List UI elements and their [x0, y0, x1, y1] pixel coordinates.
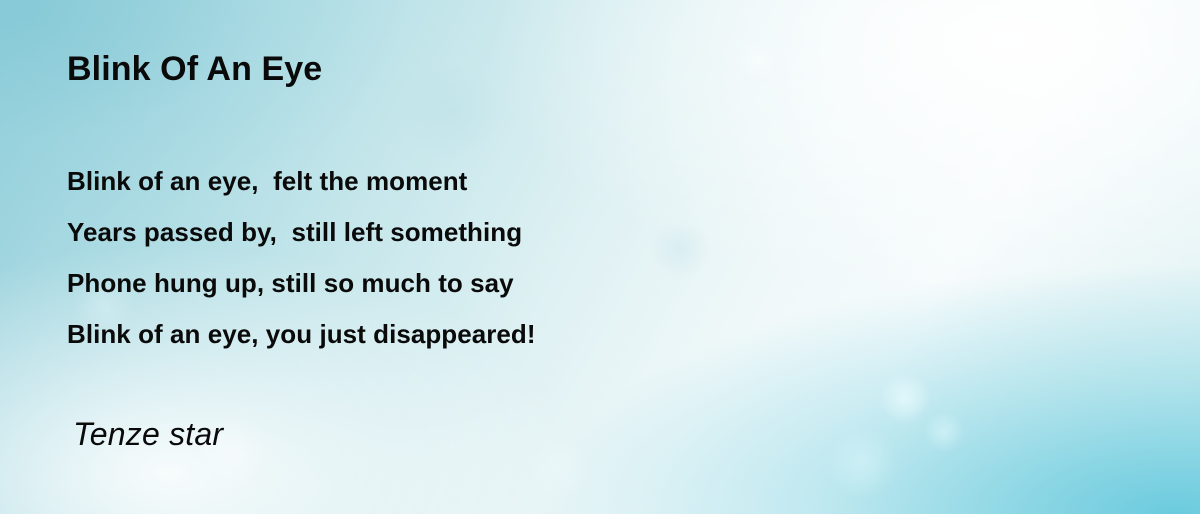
poem-body: Blink of an eye, felt the moment Years p… [67, 156, 536, 360]
poem-line: Years passed by, still left something [67, 207, 536, 258]
poem-content: Blink Of An Eye Blink of an eye, felt th… [0, 0, 1200, 514]
poem-line: Blink of an eye, you just disappeared! [67, 309, 536, 360]
poem-author-signature: Tenze star [73, 416, 223, 453]
poem-image-card: Blink Of An Eye Blink of an eye, felt th… [0, 0, 1200, 514]
poem-line: Blink of an eye, felt the moment [67, 156, 536, 207]
poem-line: Phone hung up, still so much to say [67, 258, 536, 309]
poem-title: Blink Of An Eye [67, 50, 322, 89]
